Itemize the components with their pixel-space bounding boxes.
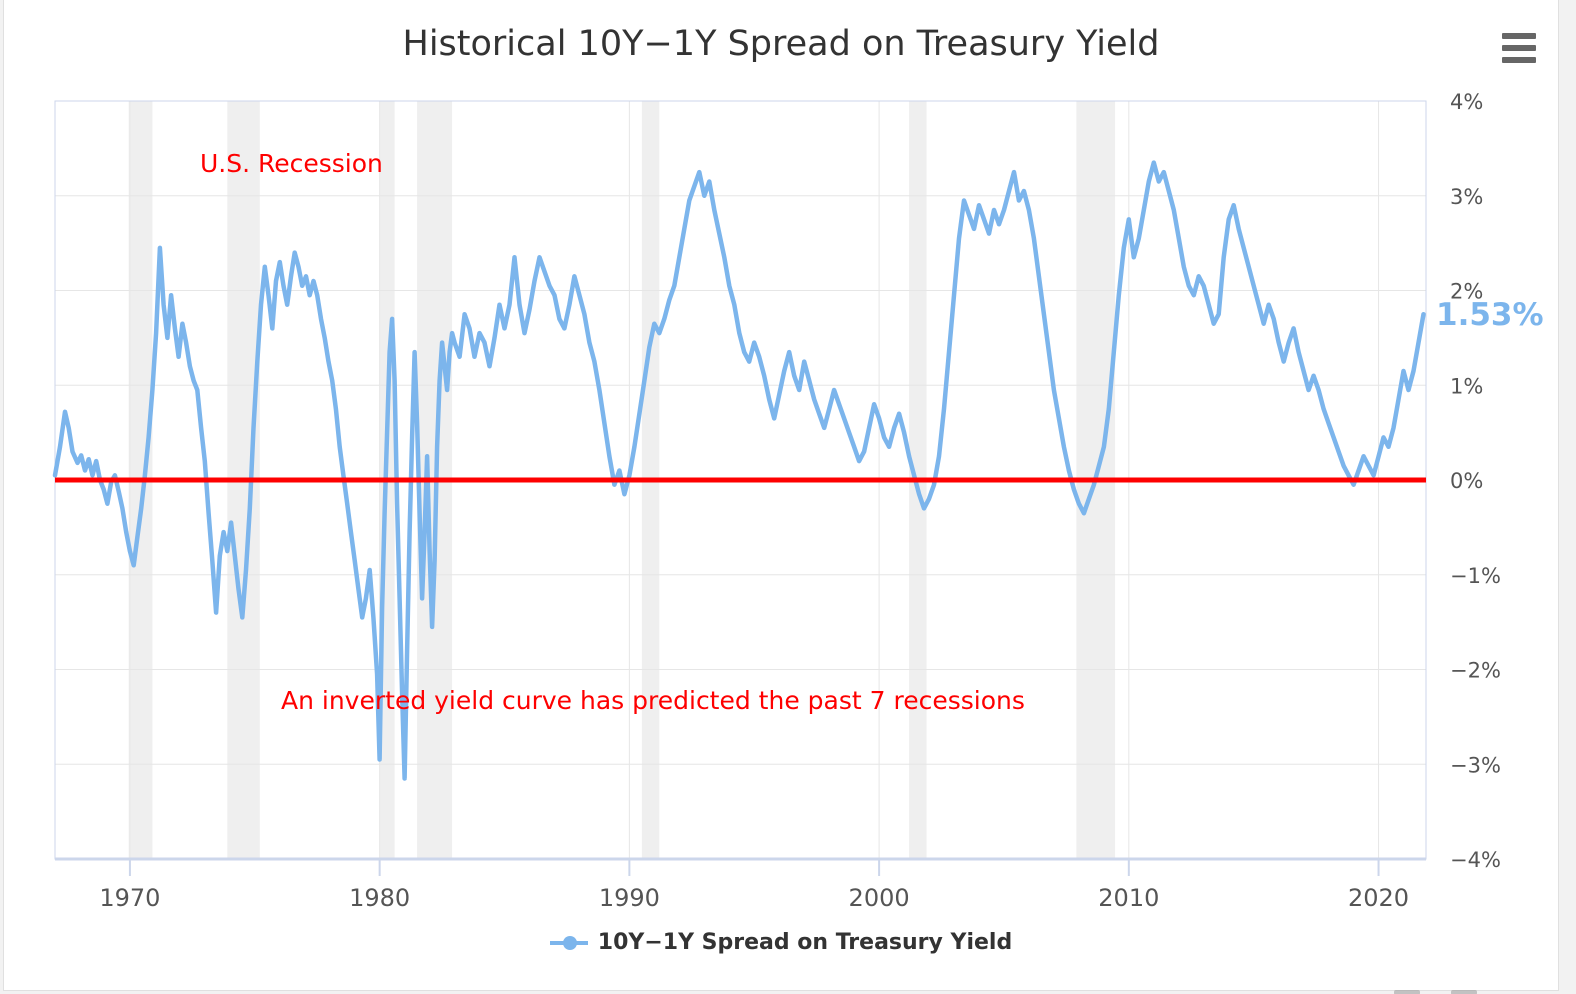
chart-plot: 4%3%2%1%0%−1%−2%−3%−4% 19701980199020002…	[4, 0, 1558, 930]
x-axis-tick-label: 1990	[599, 884, 660, 912]
recession-annotation: U.S. Recession	[200, 149, 383, 178]
x-axis-tick-label: 2010	[1098, 884, 1159, 912]
y-axis-tick-label: −3%	[1450, 753, 1501, 777]
y-axis-tick-label: −4%	[1450, 848, 1501, 872]
chart-container: Historical 10Y−1Y Spread on Treasury Yie…	[4, 0, 1558, 990]
partial-offscreen-control[interactable]	[1394, 980, 1514, 994]
x-axis-tick-label: 2020	[1348, 884, 1409, 912]
y-axis-tick-label: −1%	[1450, 564, 1501, 588]
x-axis-ticks: 197019801990200020102020	[55, 859, 1426, 912]
x-axis-tick-label: 1970	[99, 884, 160, 912]
y-axis-tick-label: 0%	[1450, 469, 1483, 493]
chart-legend[interactable]: 10Y−1Y Spread on Treasury Yield	[4, 930, 1558, 955]
legend-item-label[interactable]: 10Y−1Y Spread on Treasury Yield	[598, 930, 1012, 955]
y-axis-tick-label: 4%	[1450, 90, 1483, 114]
y-axis-tick-label: −2%	[1450, 659, 1501, 683]
x-axis-tick-label: 2000	[849, 884, 910, 912]
y-axis-tick-label: 3%	[1450, 185, 1483, 209]
y-axis-ticks: 4%3%2%1%0%−1%−2%−3%−4%	[1450, 90, 1501, 872]
partial-control-bar-1	[1394, 990, 1420, 994]
last-value-label: 1.53%	[1436, 297, 1544, 333]
legend-dot	[563, 936, 577, 950]
inverted-curve-annotation: An inverted yield curve has predicted th…	[281, 686, 1025, 715]
x-axis-tick-label: 1980	[349, 884, 410, 912]
partial-control-bar-2	[1451, 990, 1477, 994]
y-axis-tick-label: 1%	[1450, 374, 1483, 398]
legend-marker-icon	[550, 932, 588, 954]
